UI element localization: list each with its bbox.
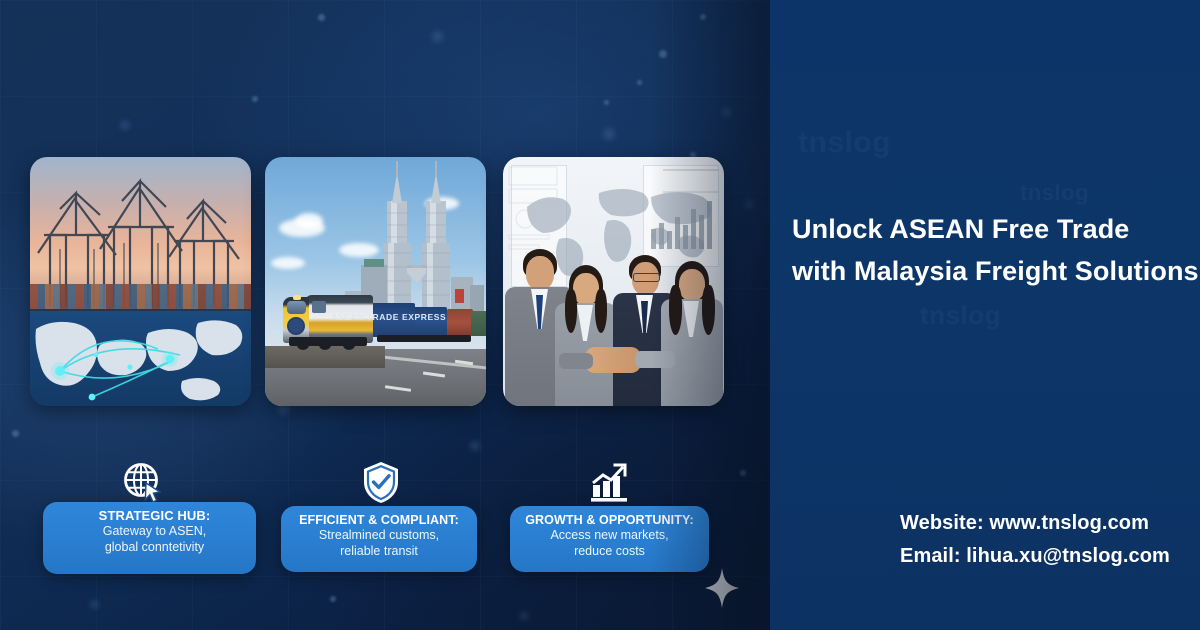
watermark-text: tnslog <box>1020 180 1089 206</box>
wheel <box>319 340 331 350</box>
wagon-bogie <box>377 335 471 342</box>
right-text-panel: tnslog tnslog tnslog Unlock ASEAN Free T… <box>770 0 1200 630</box>
feature-title: STRATEGIC HUB: <box>53 508 256 524</box>
locomotive-emblem <box>287 317 305 335</box>
bokeh-dot <box>432 31 443 42</box>
bokeh-dot <box>520 612 528 620</box>
bokeh-dot <box>637 80 642 85</box>
container-wagon <box>471 311 486 336</box>
bokeh-dot <box>603 128 615 140</box>
bokeh-dot <box>470 441 480 451</box>
email-line[interactable]: Email: lihua.xu@tnslog.com <box>900 540 1200 573</box>
feature-title: EFFICIENT & COMPLIANT: <box>281 512 477 528</box>
port-terminal-photo <box>30 157 251 406</box>
promo-banner: ASEAN TRADE EXPRESS <box>0 0 1200 630</box>
headline-line-1: Unlock ASEAN Free Trade <box>792 208 1192 250</box>
globe-cursor-icon <box>120 459 166 505</box>
locomotive-headlight <box>293 295 301 300</box>
watermark-text: tnslog <box>798 126 891 160</box>
bokeh-dot <box>252 96 258 102</box>
person <box>555 265 617 406</box>
locomotive-side-window <box>312 301 326 313</box>
wheel <box>343 340 355 350</box>
shield-check-icon <box>358 459 404 505</box>
panel-edge-shadow <box>650 0 770 630</box>
feature-card-efficient-compliant[interactable]: EFFICIENT & COMPLIANT: Strealmined custo… <box>281 506 477 572</box>
bokeh-dot <box>90 600 99 609</box>
bokeh-dot <box>12 430 19 437</box>
feature-card-strategic-hub[interactable]: STRATEGIC HUB: Gateway to ASEN, global c… <box>43 502 256 574</box>
bokeh-dot <box>604 100 609 105</box>
handshake <box>585 347 641 373</box>
forearm <box>559 353 593 369</box>
feature-line-2: reliable transit <box>281 544 477 560</box>
feature-line-1: Gateway to ASEN, <box>53 524 256 540</box>
bokeh-dot <box>318 14 325 21</box>
asean-trade-express-train-photo: ASEAN TRADE EXPRESS <box>265 157 486 406</box>
feature-line-1: Strealmined customs, <box>281 528 477 544</box>
locomotive-windshield <box>287 301 306 314</box>
headline-line-2: with Malaysia Freight Solutions <box>792 250 1192 292</box>
growth-chart-icon <box>586 459 632 505</box>
stacked-containers <box>30 284 251 311</box>
train-livery-text: ASEAN TRADE EXPRESS <box>331 312 446 322</box>
wheel <box>297 340 309 350</box>
container-wagon <box>447 309 473 336</box>
contact-block: Website: www.tnslog.com Email: lihua.xu@… <box>900 507 1200 573</box>
bokeh-dot <box>120 120 130 130</box>
headline: Unlock ASEAN Free Trade with Malaysia Fr… <box>792 208 1192 292</box>
website-line[interactable]: Website: www.tnslog.com <box>900 507 1200 540</box>
asean-connectivity-map <box>30 311 251 406</box>
left-visual-panel: ASEAN TRADE EXPRESS <box>0 0 770 630</box>
feature-line-2: global conntetivity <box>53 540 256 556</box>
watermark-text: tnslog <box>920 300 1001 331</box>
bokeh-dot <box>330 596 336 602</box>
